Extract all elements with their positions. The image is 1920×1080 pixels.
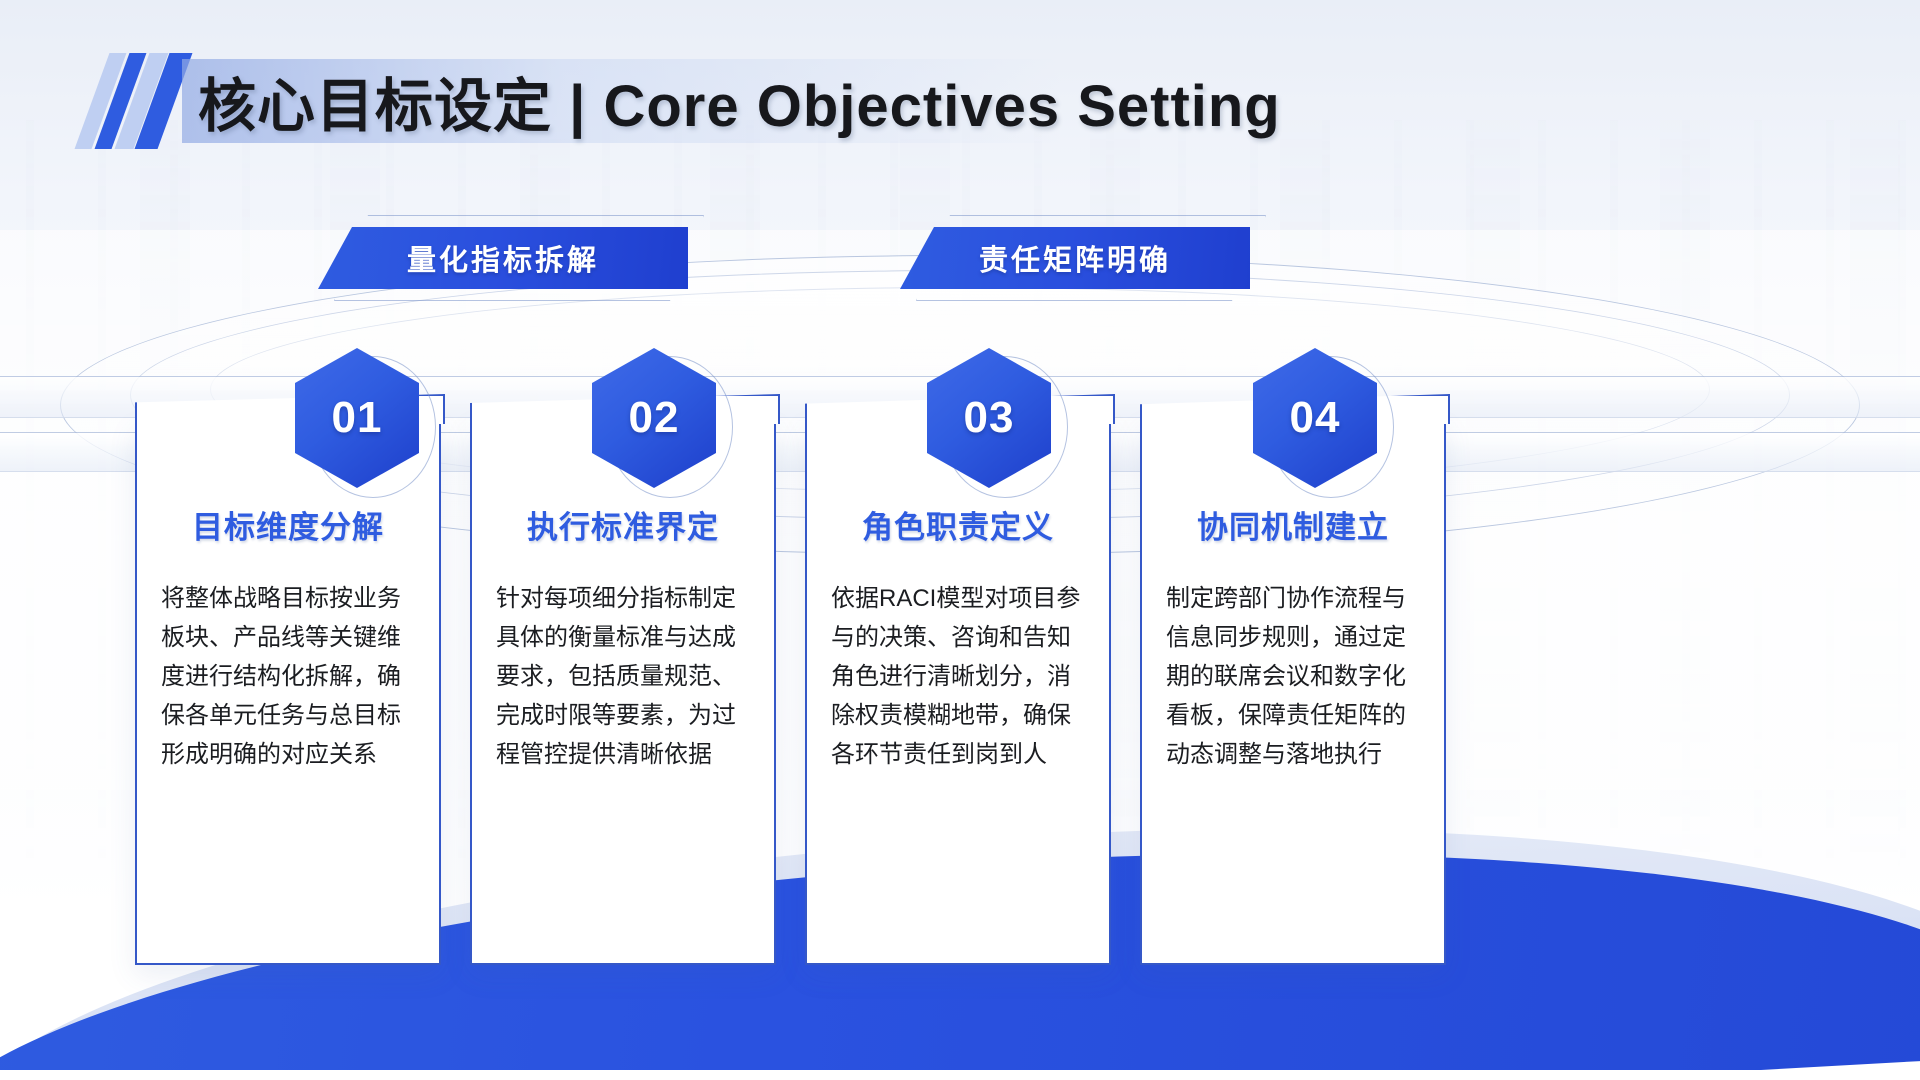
card-body-2: 针对每项细分指标制定具体的衡量标准与达成要求，包括质量规范、完成时限等要素，为过… xyxy=(496,580,754,774)
banner-label-2: 责任矩阵明确 xyxy=(979,237,1171,279)
card-title-3: 角色职责定义 xyxy=(807,502,1109,547)
card-row: 目标维度分解 将整体战略目标按业务板块、产品线等关键维度进行结构化拆解，确保各单… xyxy=(0,420,1920,980)
double-slash-icon xyxy=(90,53,182,149)
content-card-02: 执行标准界定 针对每项细分指标制定具体的衡量标准与达成要求，包括质量规范、完成时… xyxy=(470,420,776,965)
hexagon-number-02: 02 xyxy=(629,393,680,443)
wave-bottom-strip xyxy=(0,1070,1920,1080)
card-body-3: 依据RACI模型对项目参与的决策、咨询和告知角色进行清晰划分，消除权责模糊地带，… xyxy=(831,580,1089,774)
card-title-1: 目标维度分解 xyxy=(137,502,439,547)
banner-responsibility-matrix: 责任矩阵明确 xyxy=(900,227,1250,289)
hexagon-number-01: 01 xyxy=(332,393,383,443)
card-body-1: 将整体战略目标按业务板块、产品线等关键维度进行结构化拆解，确保各单元任务与总目标… xyxy=(161,580,419,774)
banner-quantified-metrics: 量化指标拆解 xyxy=(318,227,688,289)
page-title: 核心目标设定 | Core Objectives Setting xyxy=(198,59,1281,143)
hexagon-number-03: 03 xyxy=(964,393,1015,443)
hexagon-number-04: 04 xyxy=(1290,393,1341,443)
card-title-2: 执行标准界定 xyxy=(472,502,774,547)
content-card-03: 角色职责定义 依据RACI模型对项目参与的决策、咨询和告知角色进行清晰划分，消除… xyxy=(805,420,1111,965)
content-card-04: 协同机制建立 制定跨部门协作流程与信息同步规则，通过定期的联席会议和数字化看板，… xyxy=(1140,420,1446,965)
content-card-01: 目标维度分解 将整体战略目标按业务板块、产品线等关键维度进行结构化拆解，确保各单… xyxy=(135,420,441,965)
banner-label-1: 量化指标拆解 xyxy=(407,237,599,279)
slide-header: 核心目标设定 | Core Objectives Setting xyxy=(90,46,1590,156)
card-title-4: 协同机制建立 xyxy=(1142,502,1444,547)
card-body-4: 制定跨部门协作流程与信息同步规则，通过定期的联席会议和数字化看板，保障责任矩阵的… xyxy=(1166,580,1424,774)
title-plate: 核心目标设定 | Core Objectives Setting xyxy=(182,53,1281,149)
